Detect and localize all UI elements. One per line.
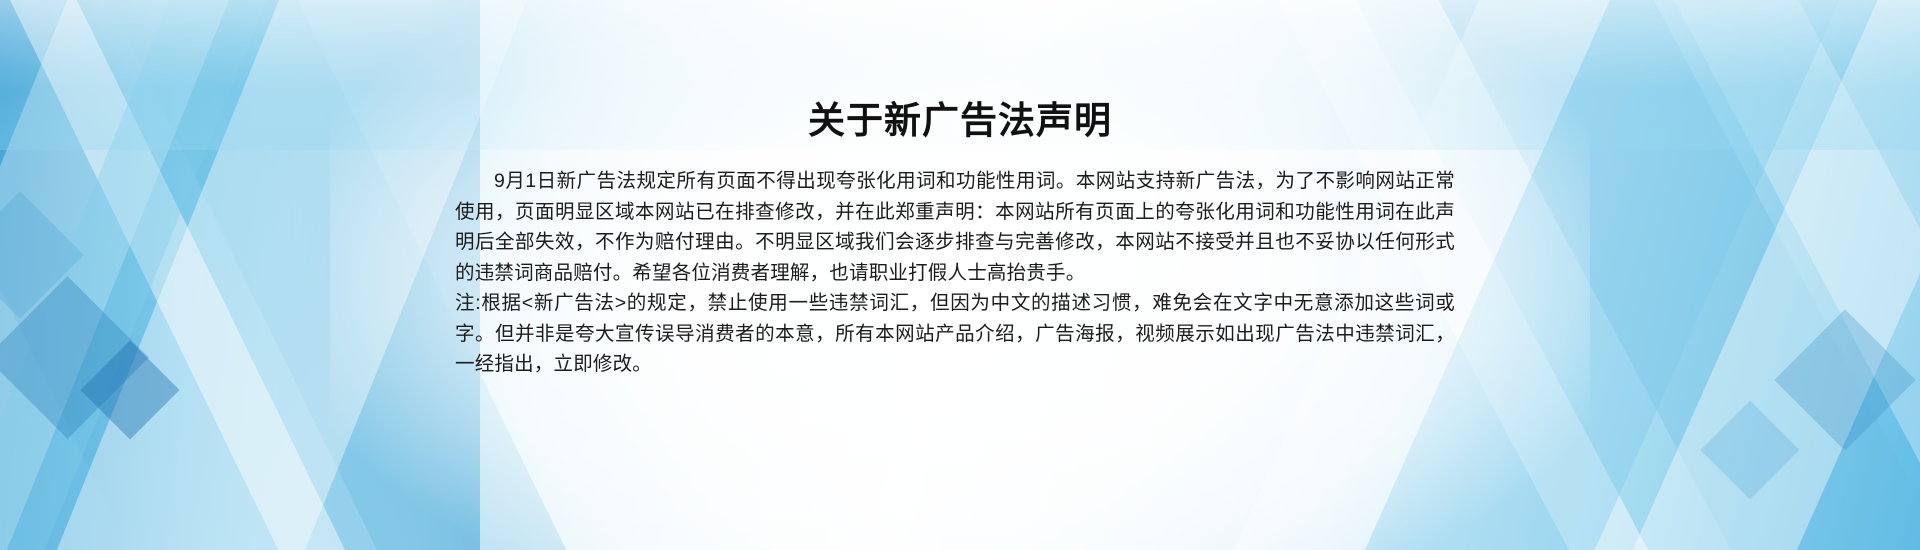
advertising-law-statement-banner: 关于新广告法声明 9月1日新广告法规定所有页面不得出现夸张化用词和功能性用词。本…: [0, 0, 1920, 550]
page-title: 关于新广告法声明: [455, 98, 1465, 144]
statement-content: 关于新广告法声明 9月1日新广告法规定所有页面不得出现夸张化用词和功能性用词。本…: [455, 0, 1465, 550]
statement-body: 9月1日新广告法规定所有页面不得出现夸张化用词和功能性用词。本网站支持新广告法，…: [455, 166, 1455, 380]
statement-paragraph-2-note: 注:根据<新广告法>的规定，禁止使用一些违禁词汇，但因为中文的描述习惯，难免会在…: [455, 288, 1455, 380]
statement-paragraph-1: 9月1日新广告法规定所有页面不得出现夸张化用词和功能性用词。本网站支持新广告法，…: [455, 166, 1455, 288]
